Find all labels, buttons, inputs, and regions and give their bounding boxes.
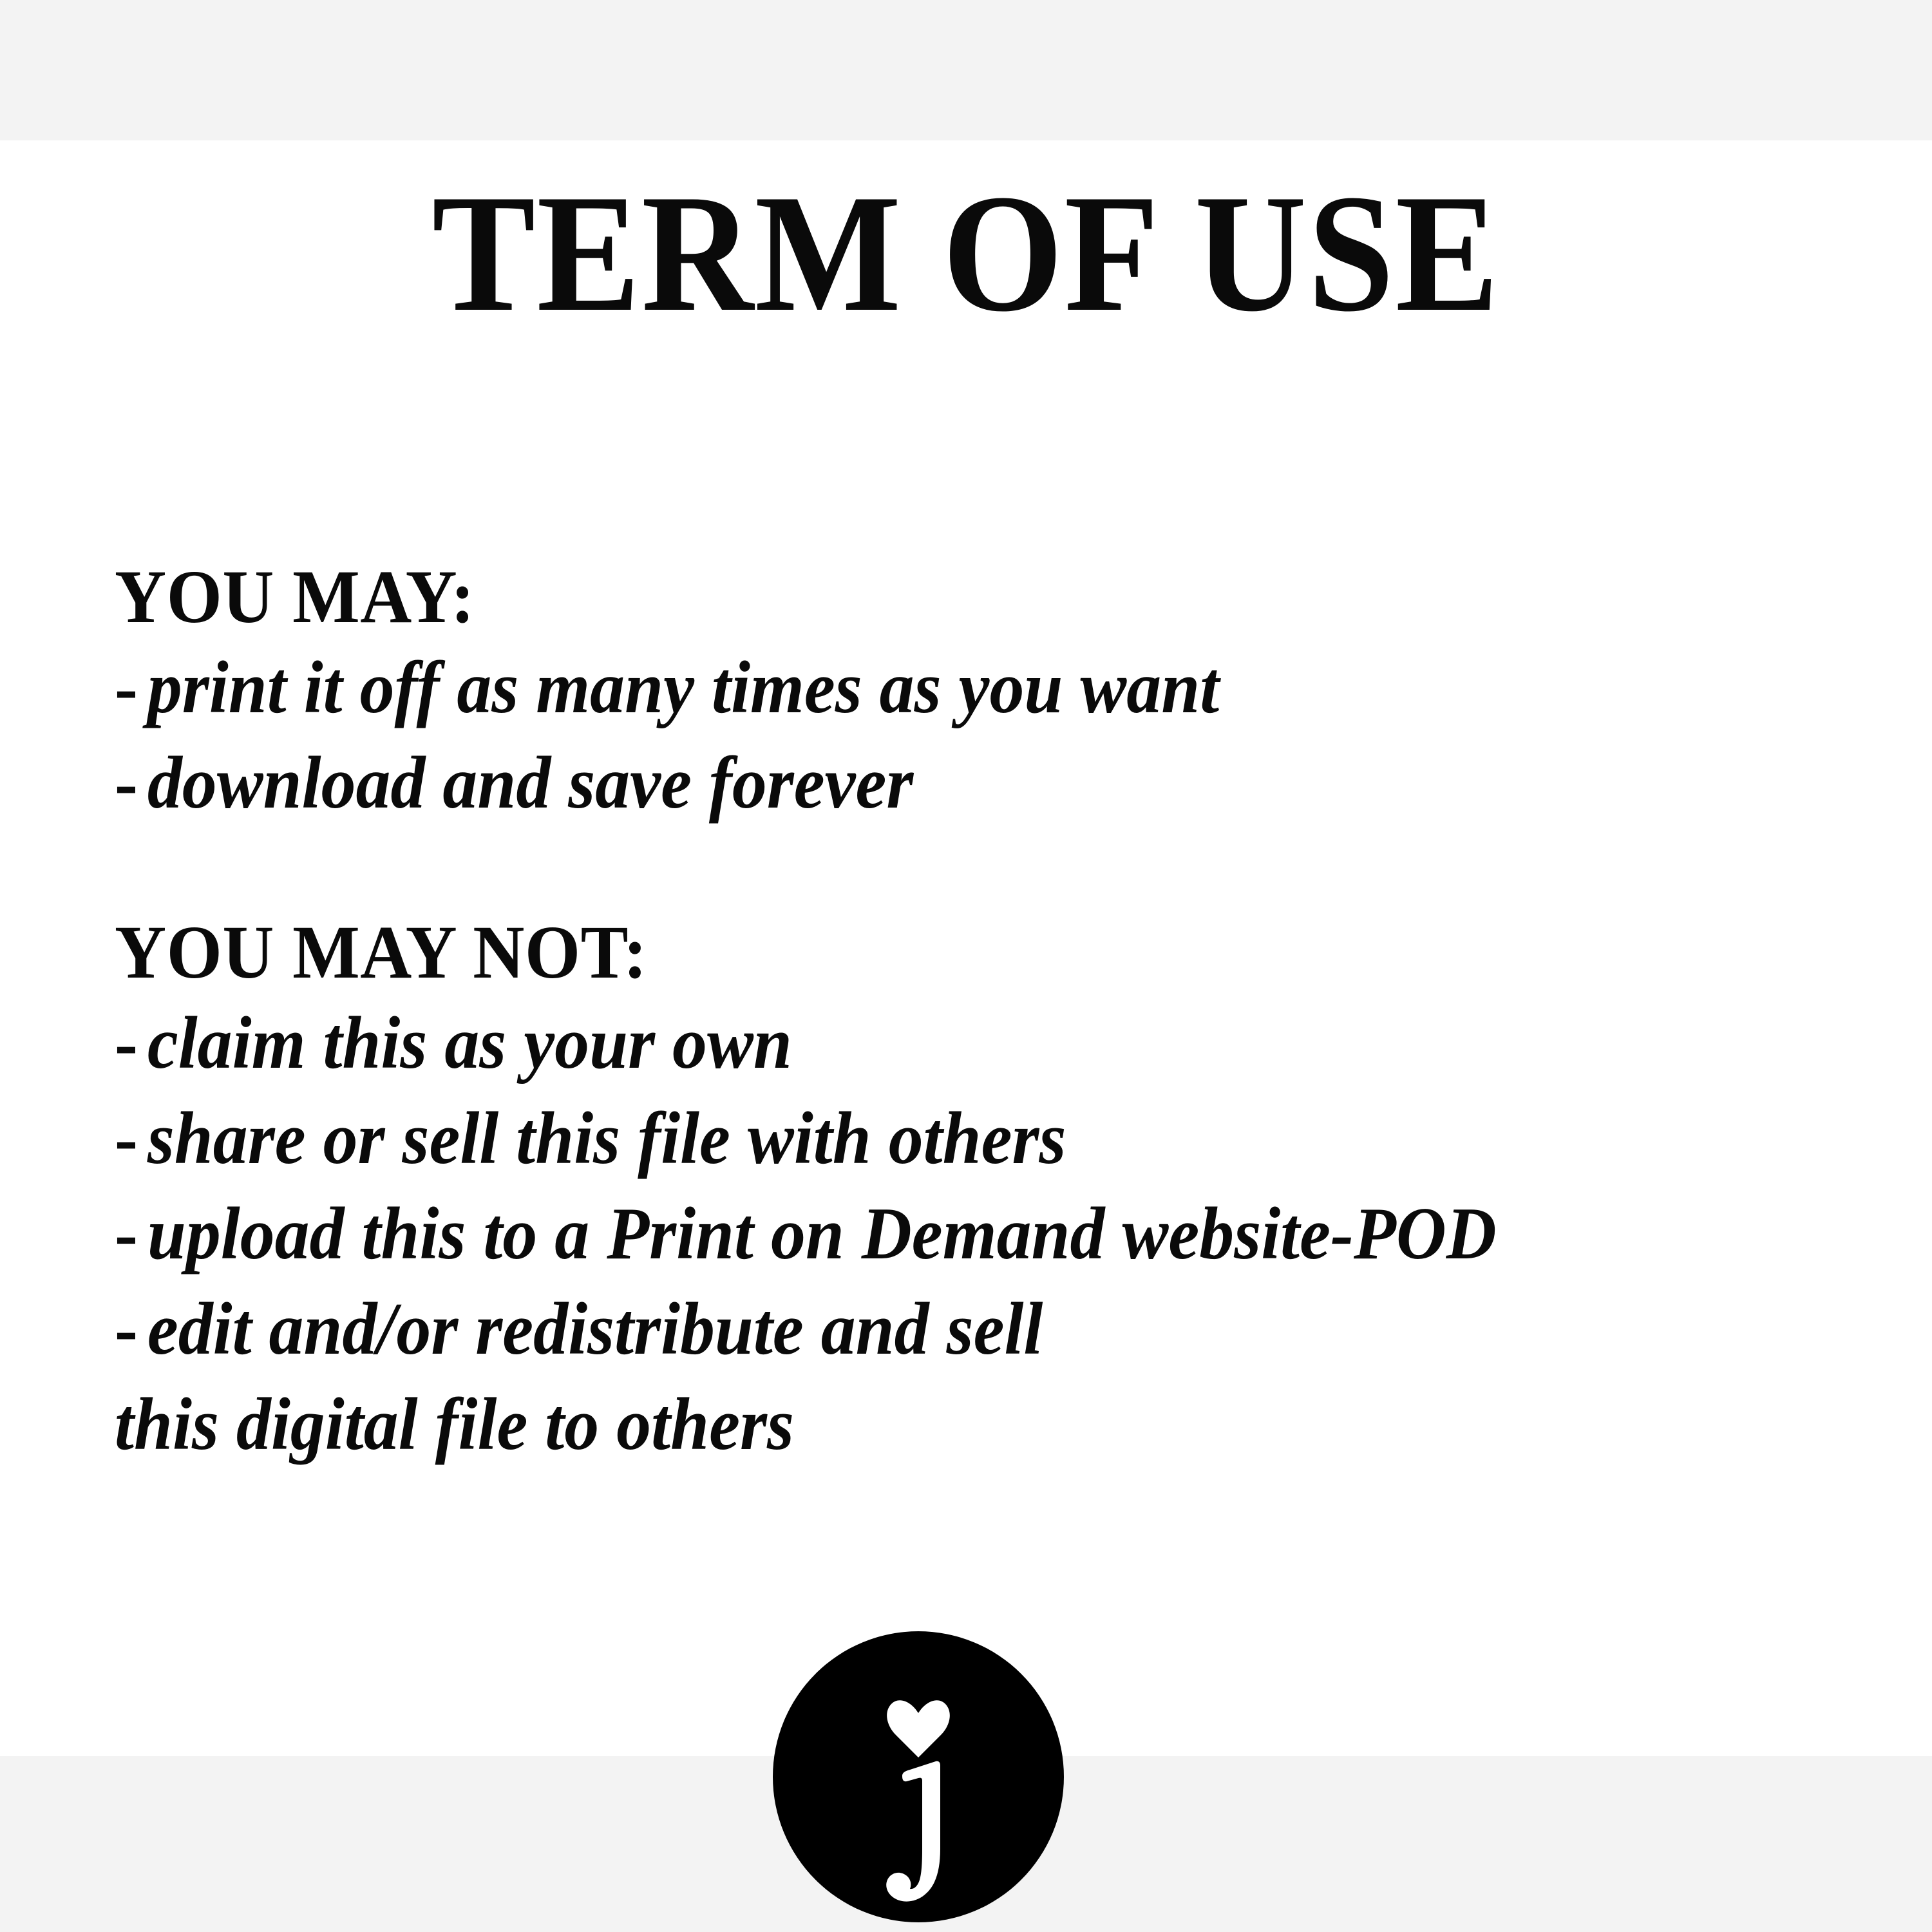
list-item-label: print it off as many times as you want — [147, 647, 1219, 729]
list-item-label: claim this as your own — [147, 1002, 792, 1084]
permission-list: -print it off as many times as you want … — [115, 640, 1879, 831]
list-item: -upload this to a Print on Demand websit… — [115, 1186, 1756, 1282]
list-item-label: upload this to a Print on Demand website… — [147, 1193, 1497, 1275]
bullet-dash-icon: - — [115, 742, 147, 824]
page-title: TERM OF USE — [77, 169, 1855, 337]
section-you-may-not: YOU MAY NOT: -claim this as your own -sh… — [115, 909, 1879, 1472]
section-you-may: YOU MAY: -print it off as many times as … — [115, 554, 1879, 831]
list-item: -edit and/or redistribute and sell — [115, 1282, 1756, 1377]
list-item: -print it off as many times as you want — [115, 640, 1756, 735]
logo-j-heart-icon — [773, 1631, 1064, 1922]
terms-of-use-page: TERM OF USE YOU MAY: -print it off as ma… — [0, 0, 1932, 1932]
list-item-label: download and save forever — [147, 742, 914, 824]
list-item: -share or sell this file with others — [115, 1091, 1756, 1186]
bullet-dash-icon: - — [115, 647, 147, 729]
list-item: -download and save forever — [115, 735, 1756, 831]
top-accent-band — [0, 0, 1932, 140]
list-item-continuation: this digital file to others — [115, 1377, 1756, 1472]
terms-body: YOU MAY: -print it off as many times as … — [115, 554, 1879, 1472]
list-item-label: edit and/or redistribute and sell — [147, 1288, 1043, 1370]
brand-logo — [773, 1631, 1064, 1922]
section-heading-you-may: YOU MAY: — [115, 554, 1774, 640]
section-heading-you-may-not: YOU MAY NOT: — [115, 909, 1774, 996]
list-item: -claim this as your own — [115, 996, 1756, 1091]
bullet-dash-icon: - — [115, 1097, 147, 1180]
bullet-dash-icon: - — [115, 1288, 147, 1370]
list-item-label: this digital file to others — [115, 1383, 794, 1466]
bullet-dash-icon: - — [115, 1002, 147, 1084]
restriction-list: -claim this as your own -share or sell t… — [115, 996, 1879, 1472]
bullet-dash-icon: - — [115, 1193, 147, 1275]
list-item-label: share or sell this file with others — [147, 1097, 1066, 1180]
